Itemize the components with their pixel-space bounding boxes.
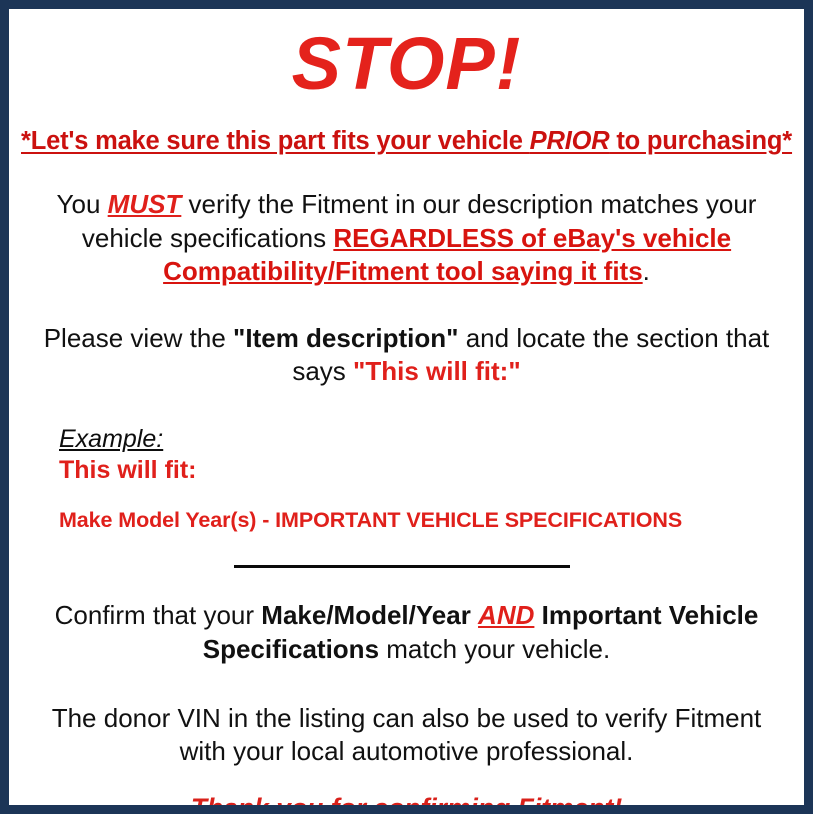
notice-content: STOP! *Let's make sure this part fits yo…: [9, 27, 804, 814]
paragraph-verify-fitment: You MUST verify the Fitment in our descr…: [21, 188, 792, 288]
para3-bold-make-model-year: Make/Model/Year: [261, 600, 478, 630]
thank-you-message: Thank you for confirming Fitment!: [21, 793, 792, 814]
para2-segment-1: Please view the: [44, 323, 233, 353]
example-block: Example: This will fit: Make Model Year(…: [21, 425, 792, 534]
subheadline-text-before: *Let's make sure this part fits your veh…: [21, 127, 530, 155]
example-spec-line: Make Model Year(s) - IMPORTANT VEHICLE S…: [59, 508, 792, 533]
para3-segment-1: Confirm that your: [55, 600, 262, 630]
subheadline-text-after: to purchasing*: [609, 127, 792, 155]
para1-segment-3: .: [643, 256, 650, 286]
para1-segment-1: You: [57, 189, 108, 219]
subheadline-emphasis-prior: PRIOR: [530, 127, 610, 155]
emphasis-must: MUST: [108, 189, 182, 219]
para3-segment-2: match your vehicle.: [379, 634, 610, 664]
quoted-this-will-fit: "This will fit:": [353, 356, 521, 386]
paragraph-item-description: Please view the "Item description" and l…: [21, 322, 792, 389]
paragraph-donor-vin: The donor VIN in the listing can also be…: [21, 702, 792, 769]
fitment-notice-card: STOP! *Let's make sure this part fits yo…: [0, 0, 813, 814]
example-this-will-fit: This will fit:: [59, 455, 792, 485]
page-title: STOP!: [21, 27, 792, 101]
quoted-item-description: "Item description": [233, 323, 458, 353]
section-divider-wrap: [21, 555, 792, 573]
example-label: Example:: [59, 425, 792, 454]
subheadline: *Let's make sure this part fits your veh…: [21, 127, 792, 156]
emphasis-and: AND: [478, 600, 534, 630]
paragraph-confirm-match: Confirm that your Make/Model/Year AND Im…: [21, 599, 792, 666]
section-divider: [234, 565, 570, 568]
